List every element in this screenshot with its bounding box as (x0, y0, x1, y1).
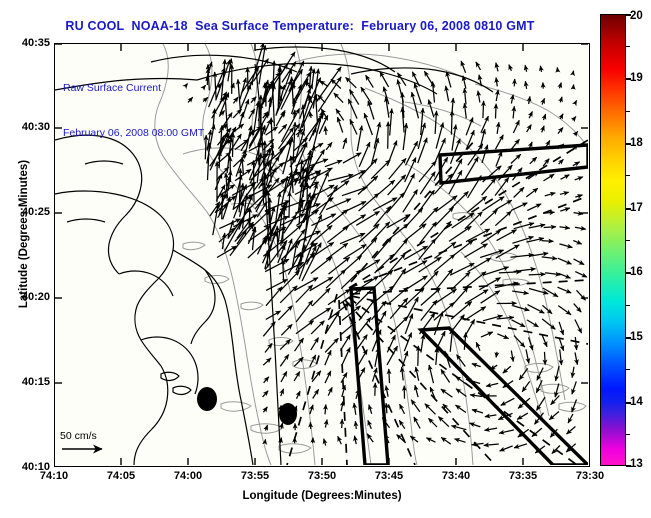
cb-tick-minor-3 (626, 175, 630, 176)
temperature-colorbar: 20 19 18 17 16 15 14 13 (600, 14, 626, 466)
y-tick-0: 40:35 (4, 37, 50, 49)
cb-label-20: 20 (630, 10, 643, 22)
figure-title: RU COOL NOAA-18 Sea Surface Temperature:… (0, 19, 600, 33)
x-tick-8: 73:30 (560, 470, 620, 482)
cb-tick-minor-7 (626, 434, 630, 435)
cb-label-15: 15 (630, 331, 643, 343)
x-tick-3: 73:55 (225, 470, 285, 482)
x-tick-1: 74:05 (91, 470, 151, 482)
colorbar-gradient (600, 14, 626, 466)
cb-label-16: 16 (630, 266, 643, 278)
surface-current-vectors (185, 44, 587, 454)
y-tick-4: 40:15 (4, 376, 50, 388)
x-tick-5: 73:45 (359, 470, 419, 482)
x-tick-6: 73:40 (426, 470, 486, 482)
x-tick-0: 74:10 (24, 470, 84, 482)
cb-tick-minor-1 (626, 46, 630, 47)
cb-tick-minor-6 (626, 369, 630, 370)
map-vector-layer (55, 44, 588, 465)
cb-label-19: 19 (630, 72, 643, 84)
cb-tick-minor-5 (626, 305, 630, 306)
cb-label-13: 13 (630, 458, 643, 470)
cb-label-18: 18 (630, 137, 643, 149)
cb-tick-minor-4 (626, 240, 630, 241)
map-plot-area: Raw Surface Current February 06, 2008 08… (54, 43, 590, 467)
cb-label-14: 14 (630, 396, 643, 408)
sst-map-figure: RU COOL NOAA-18 Sea Surface Temperature:… (0, 0, 651, 518)
cb-label-17: 17 (630, 202, 643, 214)
cb-tick-minor-2 (626, 111, 630, 112)
y-axis-label: Latitude (Degrees:Minutes) (18, 124, 30, 344)
x-axis-label: Longitude (Degrees:Minutes) (54, 490, 590, 502)
x-tick-7: 73:35 (493, 470, 553, 482)
x-tick-4: 73:50 (292, 470, 352, 482)
x-tick-2: 74:00 (158, 470, 218, 482)
